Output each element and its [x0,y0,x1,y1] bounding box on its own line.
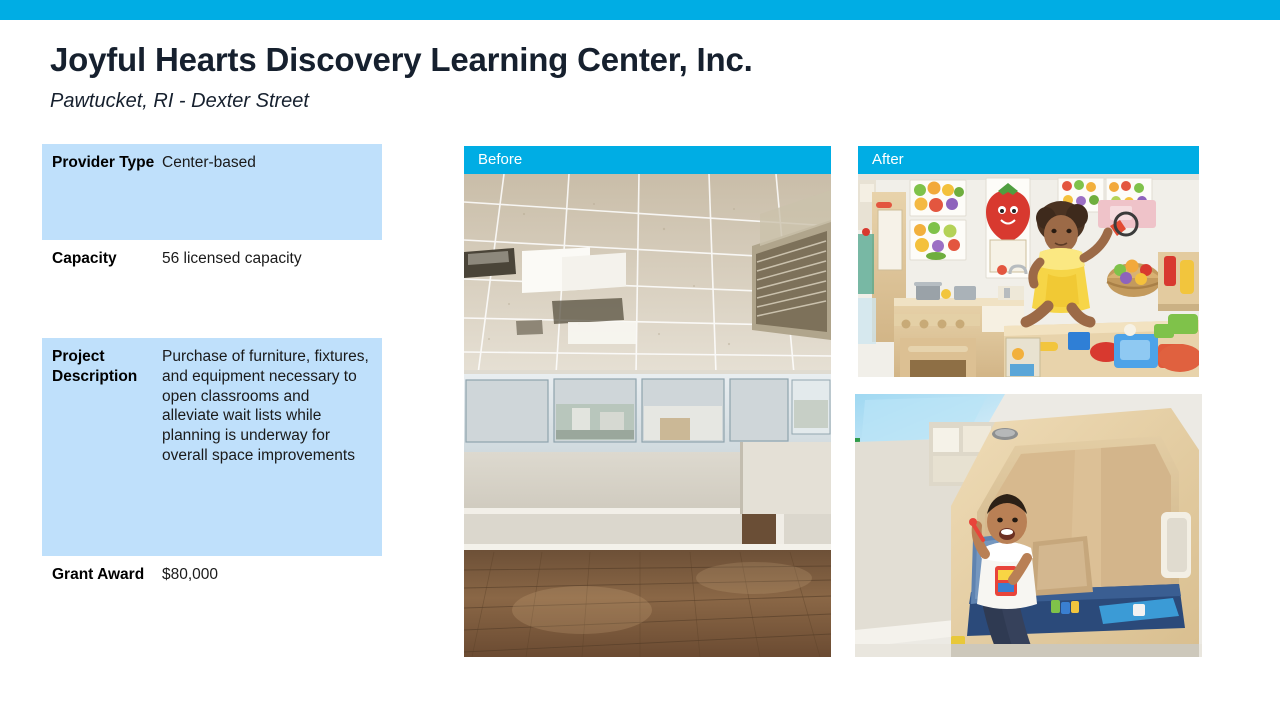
row-label: Provider Type [42,144,162,173]
page-title: Joyful Hearts Discovery Learning Center,… [50,41,850,79]
row-label: Project Description [42,338,162,387]
row-value: Center-based [162,144,382,173]
slide: Joyful Hearts Discovery Learning Center,… [0,0,1280,720]
table-row-provider-type: Provider Type Center-based [42,144,382,240]
row-value: $80,000 [162,556,382,585]
table-row-grant-award: Grant Award $80,000 [42,556,382,618]
after-label: After [872,151,904,168]
after-panel-header: After [858,146,1199,174]
row-label: Grant Award [42,556,162,585]
row-label: Capacity [42,240,162,269]
table-row-project-description: Project Description Purchase of furnitur… [42,338,382,556]
provider-info-table: Provider Type Center-based Capacity 56 l… [42,144,382,618]
table-row-capacity: Capacity 56 licensed capacity [42,240,382,338]
row-value: 56 licensed capacity [162,240,382,269]
top-accent-bar [0,0,1280,20]
row-value: Purchase of furniture, fixtures, and equ… [162,338,382,466]
before-panel-header: Before [464,146,831,174]
after-photo-play-kitchen [858,174,1199,377]
page-subtitle: Pawtucket, RI - Dexter Street [50,90,650,113]
before-label: Before [478,151,522,168]
after-photo-cozy-nook [855,394,1202,657]
before-photo [464,174,831,657]
